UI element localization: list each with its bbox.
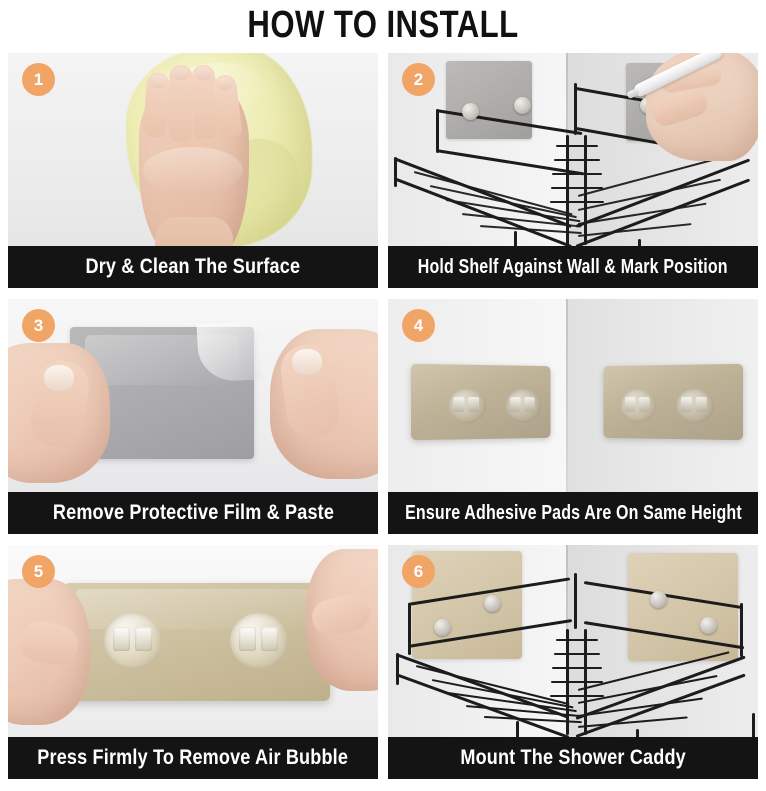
wire-corner-caddy [388, 545, 758, 737]
pad-boss [650, 591, 667, 608]
adhesive-pad-left [411, 364, 551, 440]
pad-boss-left [104, 613, 162, 669]
step-caption-text-3: Remove Protective Film & Paste [52, 501, 333, 525]
step-caption-bar-1: Dry & Clean The Surface [8, 246, 378, 288]
step-badge-6: 6 [402, 555, 435, 588]
left-hand [8, 579, 90, 725]
step-photo-3 [8, 299, 378, 492]
step-caption-bar-3: Remove Protective Film & Paste [8, 492, 378, 534]
step-caption-text-6: Mount The Shower Caddy [460, 746, 686, 770]
step-caption-bar-6: Mount The Shower Caddy [388, 737, 758, 779]
pad-boss [484, 595, 501, 612]
step-panel-1: 1 Dry & Clean The Surface [8, 53, 378, 288]
adhesive-pad-right [603, 364, 743, 440]
left-hand [8, 343, 110, 483]
pad-boss-right [230, 613, 288, 669]
adhesive-pad [64, 583, 330, 701]
step-caption-bar-2: Hold Shelf Against Wall & Mark Position [388, 246, 758, 288]
page-title: HOW TO INSTALL [69, 0, 697, 50]
step-caption-text-1: Dry & Clean The Surface [86, 255, 301, 279]
step-photo-5 [8, 545, 378, 737]
step-badge-1: 1 [22, 63, 55, 96]
pad-embossing [620, 389, 656, 423]
step-photo-6 [388, 545, 758, 737]
step-panel-2: 2 Hold Shelf Against Wall & Mark Positio… [388, 53, 758, 288]
step-caption-bar-4: Ensure Adhesive Pads Are On Same Height [388, 492, 758, 534]
right-hand [270, 329, 378, 479]
step-panel-3: 3 Remove Protective Film & Paste [8, 299, 378, 534]
hand [139, 77, 249, 246]
step-badge-5: 5 [22, 555, 55, 588]
step-panel-6: 6 Mount The Shower Caddy [388, 545, 758, 779]
step-caption-text-2: Hold Shelf Against Wall & Mark Position [418, 256, 728, 279]
step-photo-4 [388, 299, 758, 492]
steps-grid: 1 Dry & Clean The Surface [8, 53, 758, 779]
step-badge-3: 3 [22, 309, 55, 342]
step-caption-text-5: Press Firmly To Remove Air Bubble [38, 746, 349, 770]
step-caption-bar-5: Press Firmly To Remove Air Bubble [8, 737, 378, 779]
pad-embossing [505, 389, 541, 423]
step-badge-2: 2 [402, 63, 435, 96]
pad-boss [462, 103, 479, 120]
pad-embossing [448, 389, 486, 424]
hand-holding-pen [646, 53, 758, 161]
right-hand [306, 549, 378, 691]
step-caption-text-4: Ensure Adhesive Pads Are On Same Height [405, 502, 742, 525]
step-photo-1 [8, 53, 378, 246]
step-panel-4: 4 Ensure Adhesive Pads Are On Same Heigh… [388, 299, 758, 534]
step-photo-2 [388, 53, 758, 246]
pad-boss [434, 619, 451, 636]
pad-boss [514, 97, 531, 114]
pad-boss [700, 617, 717, 634]
step-panel-5: 5 Press Firmly To Remove Air Bubble [8, 545, 378, 779]
pad-embossing [676, 389, 714, 424]
step-badge-4: 4 [402, 309, 435, 342]
how-to-install-infographic: HOW TO INSTALL 1 Dry & Clean [0, 0, 766, 791]
